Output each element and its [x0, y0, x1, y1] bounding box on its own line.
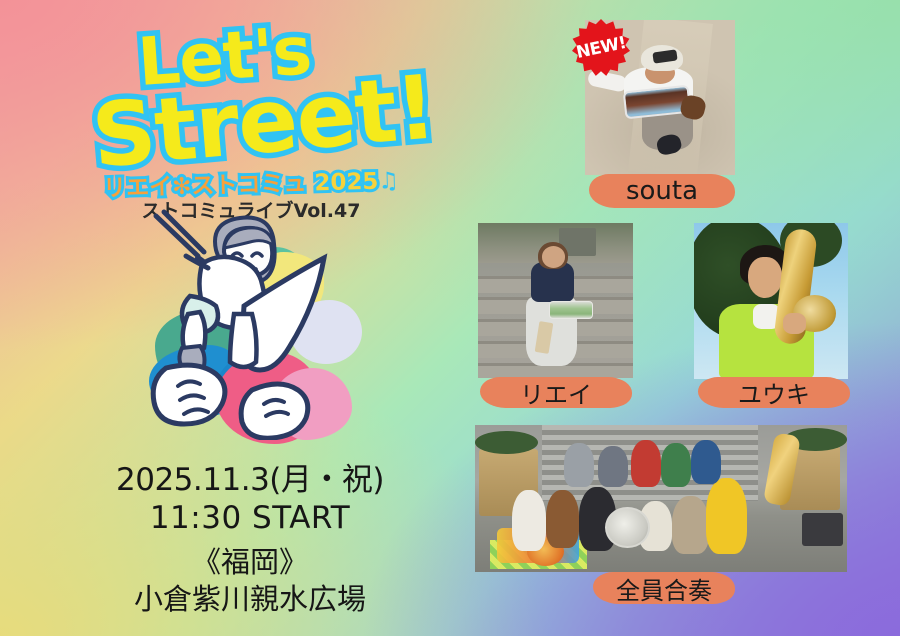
performer-name-chip-souta: souta	[591, 174, 733, 208]
poster-root: Let's Street! リエイ✻ストコミュ 2025♫ ストコミュライブVo…	[0, 0, 900, 636]
new-badge: NEW!	[572, 19, 630, 77]
photo-snare-drum	[549, 301, 592, 320]
event-start-time: 11:30 START	[60, 500, 440, 538]
photo-person	[546, 490, 579, 549]
photo-bass-drum	[605, 507, 650, 548]
photo-person	[661, 443, 691, 487]
photo-amplifier	[802, 513, 843, 545]
photo-hand	[783, 313, 806, 333]
performer-name-label: 全員合奏	[616, 571, 712, 606]
event-logo: Let's Street! リエイ✻ストコミュ 2025♫ ストコミュライブVo…	[90, 8, 410, 218]
performer-name-chip-yuuki: ユウキ	[700, 377, 848, 408]
photo-person	[631, 440, 661, 487]
performer-name-chip-group: 全員合奏	[595, 572, 733, 604]
photo-person	[706, 478, 747, 554]
performer-name-chip-riei: リエイ	[482, 377, 630, 408]
performer-name-label: リエイ	[520, 375, 592, 410]
photo-person	[512, 490, 545, 552]
event-date: 2025.11.3(月・祝)	[60, 462, 440, 500]
photo-person	[598, 446, 628, 487]
photo-face	[542, 246, 565, 268]
photo-person	[691, 440, 721, 484]
event-venue: 小倉紫川親水広場	[60, 581, 440, 617]
logo-subtitle-year: 2025	[314, 169, 379, 197]
photo-face	[748, 257, 782, 298]
performer-photo-yuuki	[694, 223, 848, 379]
performer-photo-riei	[478, 223, 633, 378]
photo-person	[672, 496, 709, 555]
mascot-illustration	[128, 208, 342, 440]
music-note-icon: ♫	[378, 168, 399, 195]
photo-person	[564, 443, 594, 487]
performer-name-label: souta	[626, 176, 698, 206]
performer-photo-group	[475, 425, 847, 572]
event-prefecture: 《福岡》	[60, 544, 440, 582]
performer-name-label: ユウキ	[738, 375, 810, 410]
event-info: 2025.11.3(月・祝) 11:30 START 《福岡》 小倉紫川親水広場	[60, 462, 440, 618]
